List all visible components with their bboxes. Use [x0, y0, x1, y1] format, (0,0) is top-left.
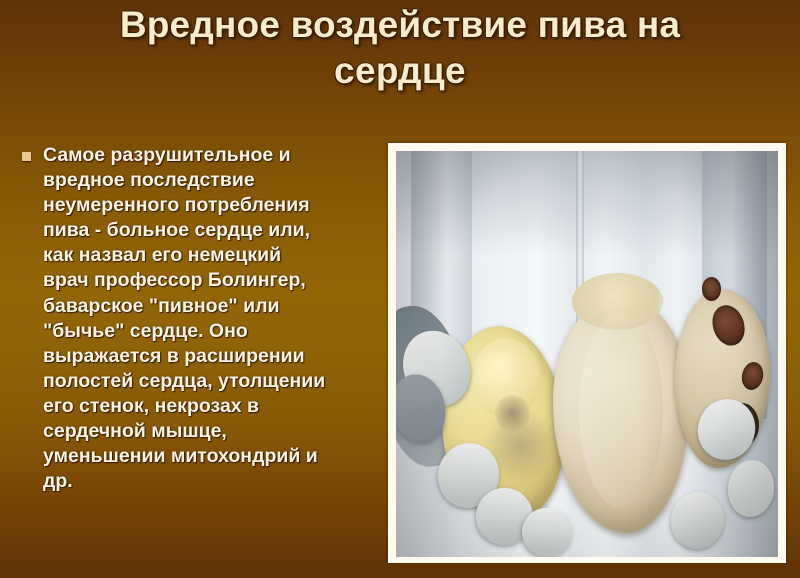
text-line: уменьшении митохондрий и: [43, 444, 377, 469]
square-bullet-icon: [22, 152, 31, 161]
heart-surface-highlight: [579, 313, 663, 508]
photo-frame: [388, 143, 786, 563]
text-line: неумеренного потребления: [43, 193, 377, 218]
slide: Вредное воздействие пива на сердце Самое…: [0, 0, 800, 578]
text-line: баварское "пивное" или: [43, 294, 377, 319]
vessel-opening-icon: [702, 277, 721, 301]
text-line: "бычье" сердце. Оно: [43, 319, 377, 344]
text-line: выражается в расширении: [43, 344, 377, 369]
bullet-paragraph: Самое разрушительное и вредное последств…: [43, 143, 377, 494]
text-line: Самое разрушительное и: [43, 143, 377, 168]
heart-specimen-photo: [396, 151, 778, 557]
text-line: др.: [43, 469, 377, 494]
text-line: полостей сердца, утолщении: [43, 369, 377, 394]
text-line: как назвал его немецкий: [43, 243, 377, 268]
text-line: врач профессор Болингер,: [43, 268, 377, 293]
text-line: сердечной мышце,: [43, 419, 377, 444]
slide-title: Вредное воздействие пива на сердце: [0, 2, 800, 94]
slide-title-line-1: Вредное воздействие пива на: [14, 2, 786, 48]
text-line: пива - больное сердце или,: [43, 218, 377, 243]
fatty-tissue-lesion: [495, 395, 529, 432]
slide-title-line-2: сердце: [14, 48, 786, 94]
text-line: его стенок, некрозах в: [43, 394, 377, 419]
bullet-list: Самое разрушительное и вредное последств…: [22, 143, 377, 494]
text-line: вредное последствие: [43, 168, 377, 193]
